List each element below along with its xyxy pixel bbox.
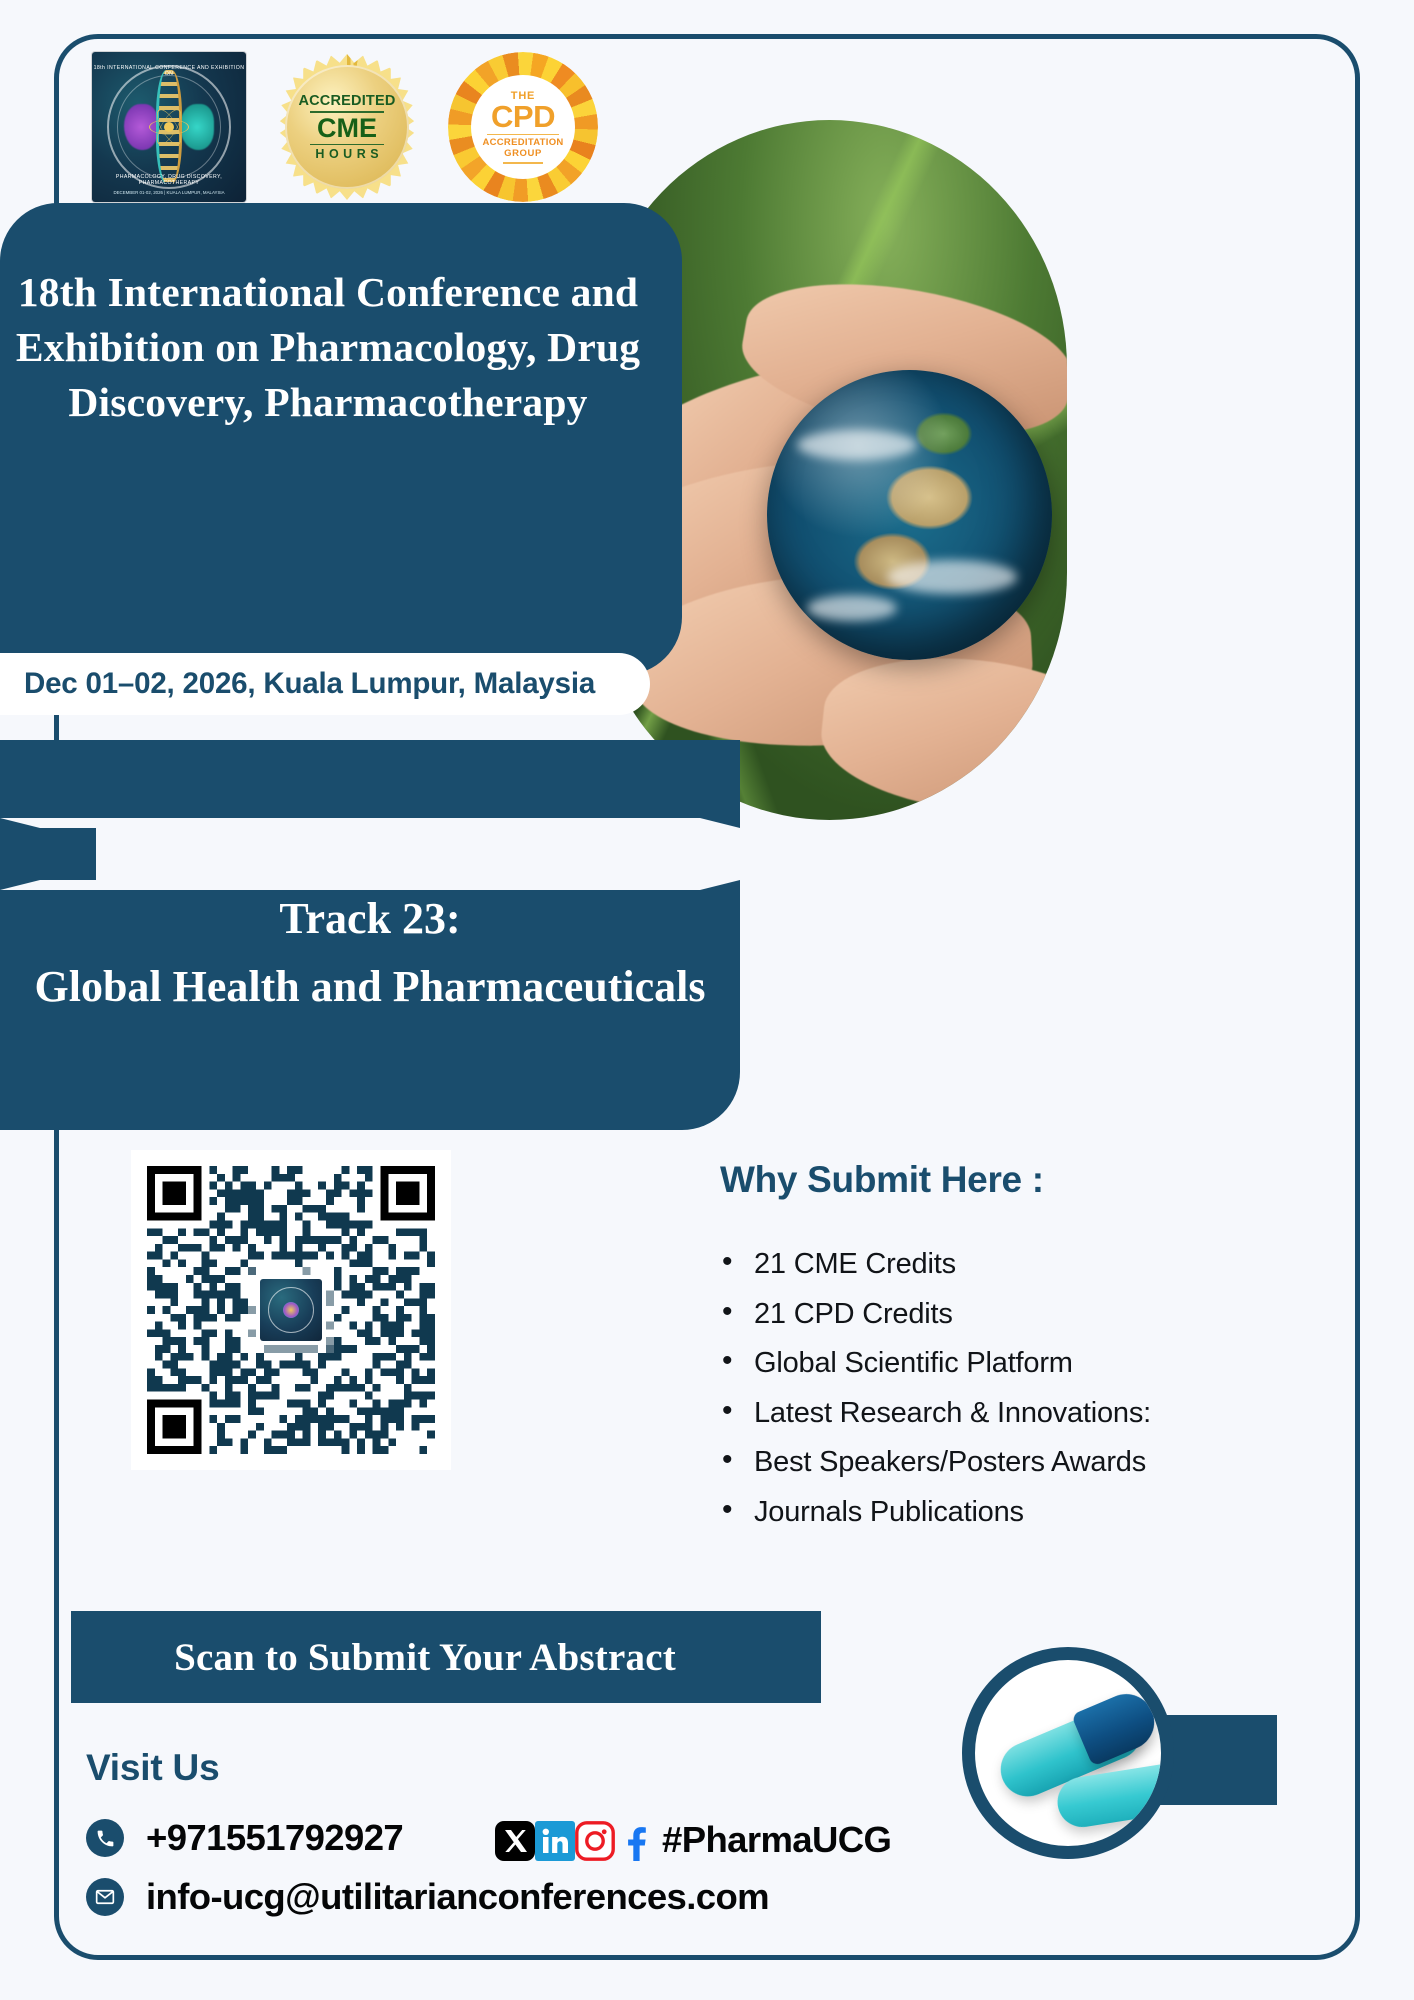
cloud xyxy=(797,430,917,460)
header-panel: 18th International Conference and Exhibi… xyxy=(0,203,682,675)
email-address: info-ucg@utilitarianconferences.com xyxy=(146,1876,769,1918)
cpd-accreditation-badge: THE CPD ACCREDITATION GROUP xyxy=(448,52,598,202)
divider xyxy=(503,162,543,164)
email-icon xyxy=(86,1878,124,1916)
qr-center-logo-icon xyxy=(260,1279,322,1341)
social-hashtag: #PharmaUCG xyxy=(662,1819,891,1861)
track-name: Global Health and Pharmaceuticals xyxy=(0,960,740,1014)
cpd-core: THE CPD ACCREDITATION GROUP xyxy=(471,75,575,179)
facebook-icon[interactable] xyxy=(615,1821,655,1861)
atom-icon xyxy=(149,107,189,147)
cpd-accreditation-label: ACCREDITATION xyxy=(482,137,563,148)
track-heading: Track 23: Global Health and Pharmaceutic… xyxy=(0,892,740,1013)
cme-hours-label: HOURS xyxy=(315,147,383,161)
phone-contact-row[interactable]: +971551792927 xyxy=(86,1817,403,1859)
scan-abstract-label: Scan to Submit Your Abstract xyxy=(174,1635,718,1680)
phone-icon xyxy=(86,1819,124,1857)
seal-disc: ACCREDITED CME HOURS xyxy=(285,65,409,189)
social-media-icons[interactable] xyxy=(495,1821,655,1861)
list-item: Best Speakers/Posters Awards xyxy=(718,1448,1238,1477)
list-item: 21 CPD Credits xyxy=(718,1300,1238,1329)
cme-accredited-label: ACCREDITED xyxy=(298,93,395,109)
logo-bottom-text: PHARMACOLOGY, DRUG DISCOVERY, PHARMACOTH… xyxy=(92,174,246,186)
cme-accredited-badge: ACCREDITED CME HOURS xyxy=(274,54,420,200)
cloud xyxy=(807,595,897,621)
visit-us-heading: Visit Us xyxy=(86,1747,219,1789)
track-white-band xyxy=(96,828,710,880)
logo-date-text: DECEMBER 01-02, 2026 | KUALA LUMPUR, MAL… xyxy=(92,190,246,195)
accreditation-badges: 18th INTERNATIONAL CONFERENCE AND EXHIBI… xyxy=(92,52,598,202)
earth-globe xyxy=(767,370,1052,660)
capsules-photo xyxy=(962,1647,1174,1859)
cme-label: CME xyxy=(317,115,377,142)
qr-code[interactable] xyxy=(131,1150,451,1470)
divider xyxy=(310,144,384,146)
conference-logo-icon: 18th INTERNATIONAL CONFERENCE AND EXHIBI… xyxy=(92,52,246,202)
list-item: Latest Research & Innovations: xyxy=(718,1399,1238,1428)
cloud xyxy=(887,560,1017,594)
why-submit-list: 21 CME Credits 21 CPD Credits Global Sci… xyxy=(718,1250,1238,1547)
scan-abstract-banner: Scan to Submit Your Abstract xyxy=(71,1611,821,1703)
date-location-pill: Dec 01–02, 2026, Kuala Lumpur, Malaysia xyxy=(0,653,650,715)
linkedin-icon[interactable] xyxy=(535,1821,575,1861)
track-number: Track 23: xyxy=(0,892,740,946)
conference-title: 18th International Conference and Exhibi… xyxy=(0,265,656,429)
why-submit-title: Why Submit Here : xyxy=(720,1159,1044,1201)
x-icon[interactable] xyxy=(495,1821,535,1861)
email-contact-row[interactable]: info-ucg@utilitarianconferences.com xyxy=(86,1876,769,1918)
divider xyxy=(487,134,559,136)
phone-number: +971551792927 xyxy=(146,1817,403,1859)
list-item: Journals Publications xyxy=(718,1498,1238,1527)
list-item: Global Scientific Platform xyxy=(718,1349,1238,1378)
logo-top-text: 18th INTERNATIONAL CONFERENCE AND EXHIBI… xyxy=(92,65,246,77)
instagram-icon[interactable] xyxy=(575,1821,615,1861)
list-item: 21 CME Credits xyxy=(718,1250,1238,1279)
cpd-group-label: GROUP xyxy=(504,148,542,159)
date-location-text: Dec 01–02, 2026, Kuala Lumpur, Malaysia xyxy=(0,667,595,701)
conference-poster: 18th INTERNATIONAL CONFERENCE AND EXHIBI… xyxy=(0,0,1414,2000)
cpd-label: CPD xyxy=(491,102,555,131)
